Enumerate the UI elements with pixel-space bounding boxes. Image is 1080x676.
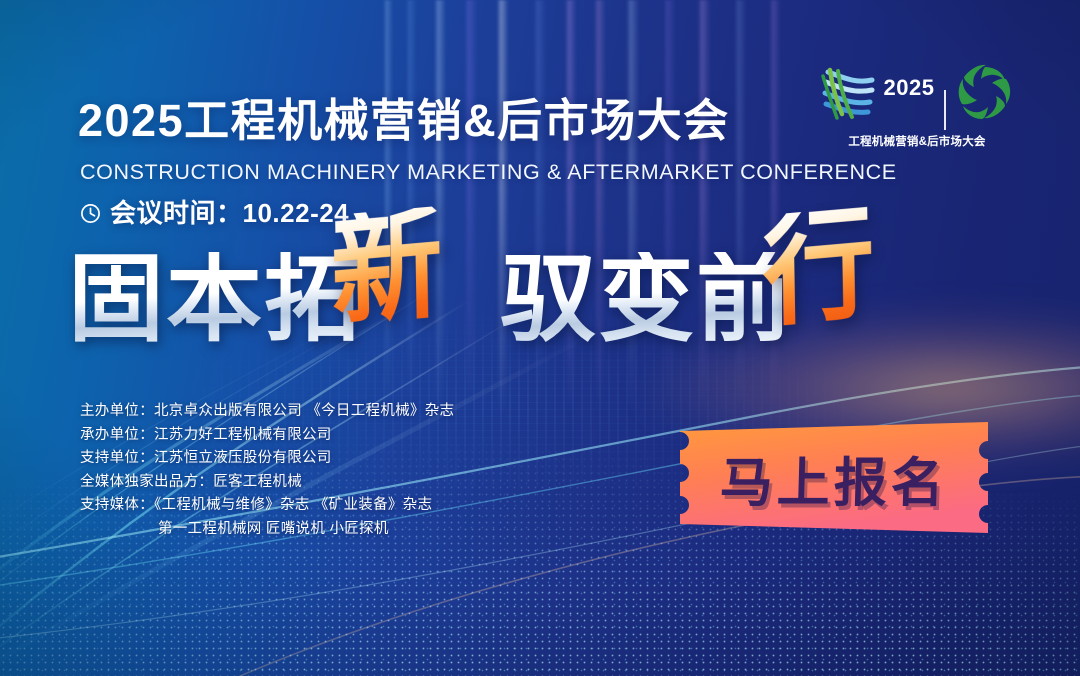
credits-block: 主办单位：北京卓众出版有限公司 《今日工程机械》杂志 承办单位：江苏力好工程机械… [80, 400, 454, 541]
logo-year: 2025 [884, 77, 935, 109]
credits-line: 主办单位：北京卓众出版有限公司 《今日工程机械》杂志 [80, 400, 454, 424]
register-now-button[interactable]: 马上报名 [666, 419, 1002, 536]
poster-content: 2025 工程机械营销&后市场大会 2025工程机械营销&后市场大会 CONST… [0, 0, 1080, 676]
conference-poster: 2025 工程机械营销&后市场大会 2025工程机械营销&后市场大会 CONST… [0, 0, 1080, 676]
credits-line: 支持媒体：《工程机械与维修》杂志 《矿业装备》杂志 [80, 494, 454, 518]
logo-divider [944, 90, 946, 130]
meeting-time-text: 会议时间：10.22-24 [110, 200, 349, 226]
credits-line: 全媒体独家出品方：匠客工程机械 [80, 471, 454, 495]
credits-line: 承办单位：江苏力好工程机械有限公司 [80, 424, 454, 448]
slogan-phrase-1-plain: 固本拓 [68, 252, 362, 348]
slogan-phrase-2-plain: 驭变前 [500, 252, 794, 348]
page-title: 2025工程机械营销&后市场大会 [78, 98, 730, 143]
credits-line: 支持单位：江苏恒立液压股份有限公司 [80, 447, 454, 471]
conference-logo: 2025 工程机械营销&后市场大会 [832, 56, 1002, 168]
page-subtitle-english: CONSTRUCTION MACHINERY MARKETING & AFTER… [80, 160, 897, 185]
logo-marks: 2025 [820, 56, 1015, 130]
slogan-phrase-1-accent: 新 [330, 206, 444, 329]
register-now-label: 马上报名 [664, 420, 1003, 537]
logo-caption: 工程机械营销&后市场大会 [848, 133, 985, 149]
meeting-time: 会议时间：10.22-24 [80, 200, 349, 226]
slogan-phrase-2-accent: 行 [762, 206, 876, 329]
slogan: 固本拓 新 驭变前 行 [68, 252, 876, 348]
credits-line: 第一工程机械网 匠嘴说机 小匠探机 [80, 518, 454, 542]
slogan-phrase-1: 固本拓 新 [68, 252, 444, 348]
slogan-phrase-2: 驭变前 行 [500, 252, 876, 348]
ribbon-swoosh-icon [820, 62, 878, 124]
clock-icon [80, 203, 101, 224]
green-leaf-ring-icon [956, 63, 1014, 123]
